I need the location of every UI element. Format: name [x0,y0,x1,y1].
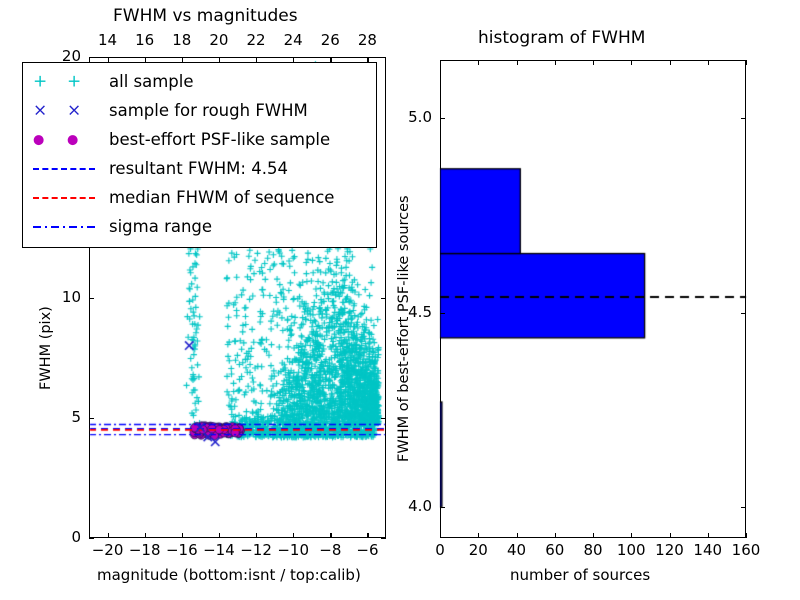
axis-tick [440,60,441,65]
axis-tick [440,533,441,538]
legend-label: median FHWM of sequence [109,183,334,212]
legend-label: sigma range [109,212,212,241]
axis-tick [708,533,709,538]
tick-label: 60 [545,541,564,559]
axis-tick [593,533,594,538]
axis-tick [381,298,386,299]
legend-label: resultant FWHM: 4.54 [109,154,288,183]
figure-canvas: FWHM vs magnitudes 1416182022242628 −20−… [0,0,800,600]
legend-item[interactable]: resultant FWHM: 4.54 [23,154,376,183]
legend-line-icon [33,226,95,228]
legend-label: sample for rough FWHM [109,96,308,125]
legend-marker-icon: × [67,102,81,119]
legend-label: all sample [109,67,194,96]
tick-label: 100 [617,541,646,559]
tick-label: 4.0 [408,497,432,515]
axis-tick [517,60,518,65]
axis-tick [708,60,709,65]
axis-tick [89,418,94,419]
tick-label: 120 [655,541,684,559]
tick-label: 140 [693,541,722,559]
axis-tick [256,533,257,538]
right-x-axis-label: number of sources [510,566,650,584]
legend-marker-icon: ● [67,133,78,146]
right-y-axis-label: FWHM of best-effort PSF-like sources [396,195,412,462]
axis-tick [746,533,747,538]
legend-marker-sample [23,183,109,212]
legend-item[interactable]: ××sample for rough FWHM [23,96,376,125]
axis-tick [293,533,294,538]
axis-tick [440,118,445,119]
axis-tick [440,313,445,314]
axis-tick [182,533,183,538]
legend-item[interactable]: sigma range [23,212,376,241]
axis-tick [219,533,220,538]
axis-tick [330,533,331,538]
legend-marker-sample: ++ [23,67,109,96]
axis-tick [555,533,556,538]
legend-marker-sample [23,154,109,183]
legend-label: best-effort PSF-like sample [109,125,330,154]
axis-tick [631,533,632,538]
legend-line-icon [33,197,95,199]
tick-label: 5.0 [408,108,432,126]
tick-label: 0 [435,541,445,559]
axis-tick [440,507,445,508]
tick-label: 40 [507,541,526,559]
axis-tick [478,60,479,65]
axis-tick [746,60,747,65]
axis-tick [631,60,632,65]
legend-line-icon [33,168,95,170]
axis-tick [145,533,146,538]
axis-tick [741,313,746,314]
axis-tick [89,538,94,539]
legend-marker-icon: ● [33,133,44,146]
axis-tick [478,533,479,538]
legend-item[interactable]: ●●best-effort PSF-like sample [23,125,376,154]
axis-tick [89,57,94,58]
axis-tick [517,533,518,538]
axis-tick [555,60,556,65]
axis-tick [381,57,386,58]
axis-tick [89,298,94,299]
legend-marker-sample: ×× [23,96,109,125]
axis-tick [108,533,109,538]
legend-marker-icon: + [33,73,47,90]
legend-marker-icon: + [67,73,81,90]
legend-marker-sample [23,212,109,241]
legend-item[interactable]: median FHWM of sequence [23,183,376,212]
axis-tick [741,118,746,119]
tick-label: 160 [732,541,761,559]
legend-box[interactable]: ++all sample××sample for rough FWHM●●bes… [22,62,377,248]
axis-tick [381,418,386,419]
axis-tick [670,60,671,65]
tick-label: 80 [583,541,602,559]
tick-label: 20 [469,541,488,559]
axis-tick [367,533,368,538]
axis-tick [670,533,671,538]
legend-marker-icon: × [33,102,47,119]
axis-tick [741,507,746,508]
axis-tick [381,538,386,539]
legend-marker-sample: ●● [23,125,109,154]
legend-item[interactable]: ++all sample [23,67,376,96]
axis-tick [593,60,594,65]
